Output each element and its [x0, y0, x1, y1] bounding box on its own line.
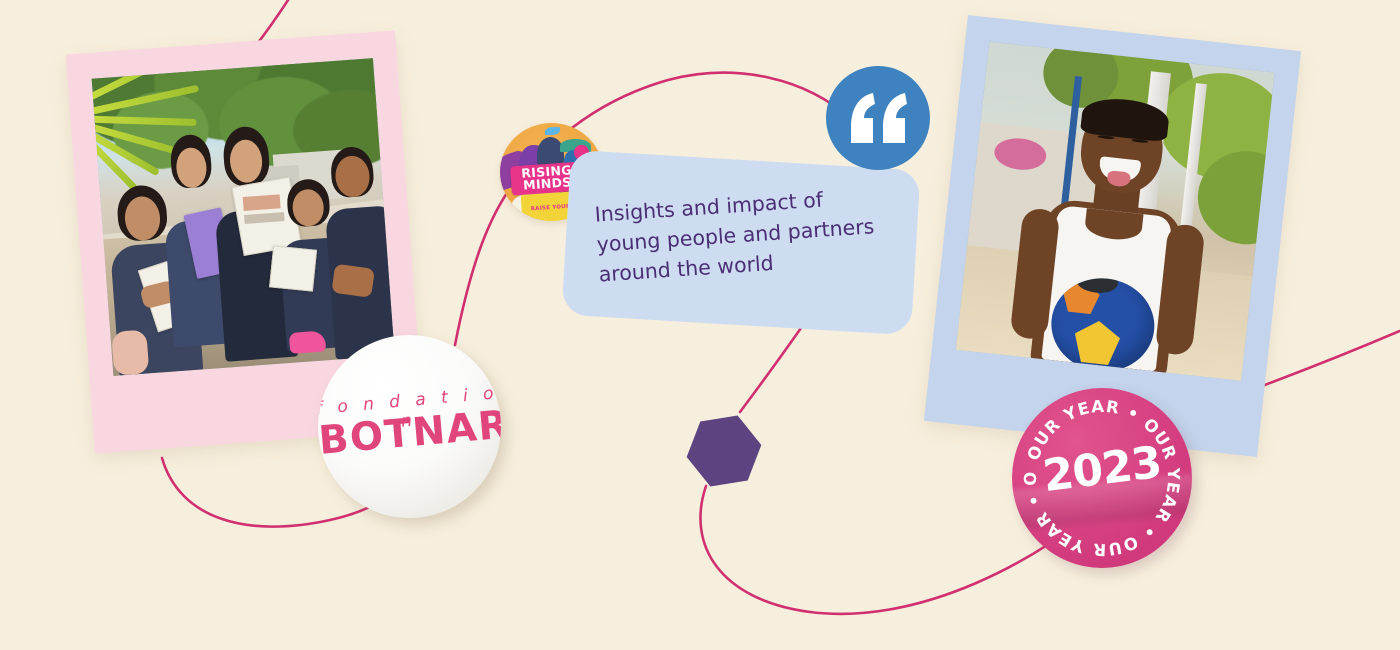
- our-year-2023-sticker[interactable]: OUR YEAR • OUR YEAR • OUR YEAR • OUR YEA…: [1012, 388, 1192, 568]
- curve-right-exit: [1262, 330, 1400, 386]
- quote-mark-circle: [826, 66, 930, 170]
- photo-boy-football: [956, 42, 1275, 381]
- photo-students-scene: [92, 58, 395, 376]
- photo-students: [92, 58, 395, 376]
- quote-mark-icon: [847, 91, 909, 145]
- botnar-logo-sticker[interactable]: f o n d a t i o n BOTNAR: [318, 335, 501, 518]
- quote-bubble: Insights and impact of young people and …: [561, 150, 920, 335]
- photo-boy-scene: [956, 42, 1275, 381]
- rising-minds-tagline-text: RAISE YOUR VOICE: [531, 204, 571, 221]
- quote-bubble-text: Insights and impact of young people and …: [594, 181, 889, 290]
- hero-banner: RISING MINDS RAISE YOUR VOICE Insights a…: [0, 0, 1400, 650]
